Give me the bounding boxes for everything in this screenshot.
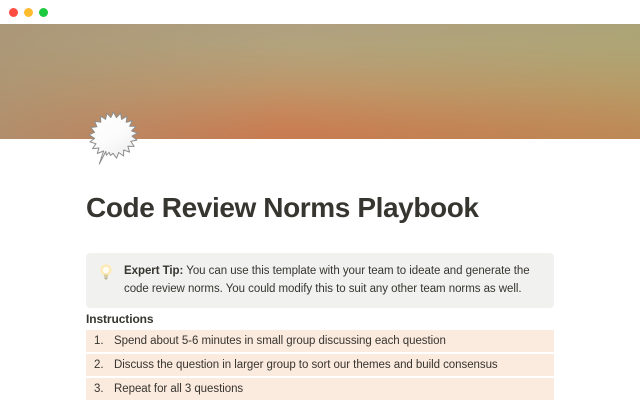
instructions-heading: Instructions xyxy=(86,311,153,327)
window-controls xyxy=(9,8,48,17)
expert-tip-callout[interactable]: Expert Tip: You can use this template wi… xyxy=(86,253,554,308)
starburst-speech-bubble-icon[interactable] xyxy=(85,110,143,166)
document-window: Code Review Norms Playbook Expert Tip: Y… xyxy=(0,0,640,400)
close-window-button[interactable] xyxy=(9,8,18,17)
list-item-label: Repeat for all 3 questions xyxy=(114,378,554,400)
list-item-number: 3. xyxy=(94,378,114,400)
instructions-list: 1. Spend about 5-6 minutes in small grou… xyxy=(86,330,554,400)
expert-tip-body: You can use this template with your team… xyxy=(124,265,530,295)
lightbulb-icon xyxy=(98,263,114,281)
maximize-window-button[interactable] xyxy=(39,8,48,17)
list-item[interactable]: 1. Spend about 5-6 minutes in small grou… xyxy=(86,330,554,352)
list-item[interactable]: 3. Repeat for all 3 questions xyxy=(86,378,554,400)
page-title: Code Review Norms Playbook xyxy=(86,191,479,225)
list-item-number: 2. xyxy=(94,354,114,376)
list-item-label: Discuss the question in larger group to … xyxy=(114,354,554,376)
list-item[interactable]: 2. Discuss the question in larger group … xyxy=(86,354,554,376)
expert-tip-text: Expert Tip: You can use this template wi… xyxy=(124,262,540,298)
page-content: Code Review Norms Playbook Expert Tip: Y… xyxy=(0,139,640,400)
expert-tip-label: Expert Tip: xyxy=(124,265,183,277)
list-item-label: Spend about 5-6 minutes in small group d… xyxy=(114,330,554,352)
window-titlebar xyxy=(0,0,640,24)
list-item-number: 1. xyxy=(94,330,114,352)
minimize-window-button[interactable] xyxy=(24,8,33,17)
